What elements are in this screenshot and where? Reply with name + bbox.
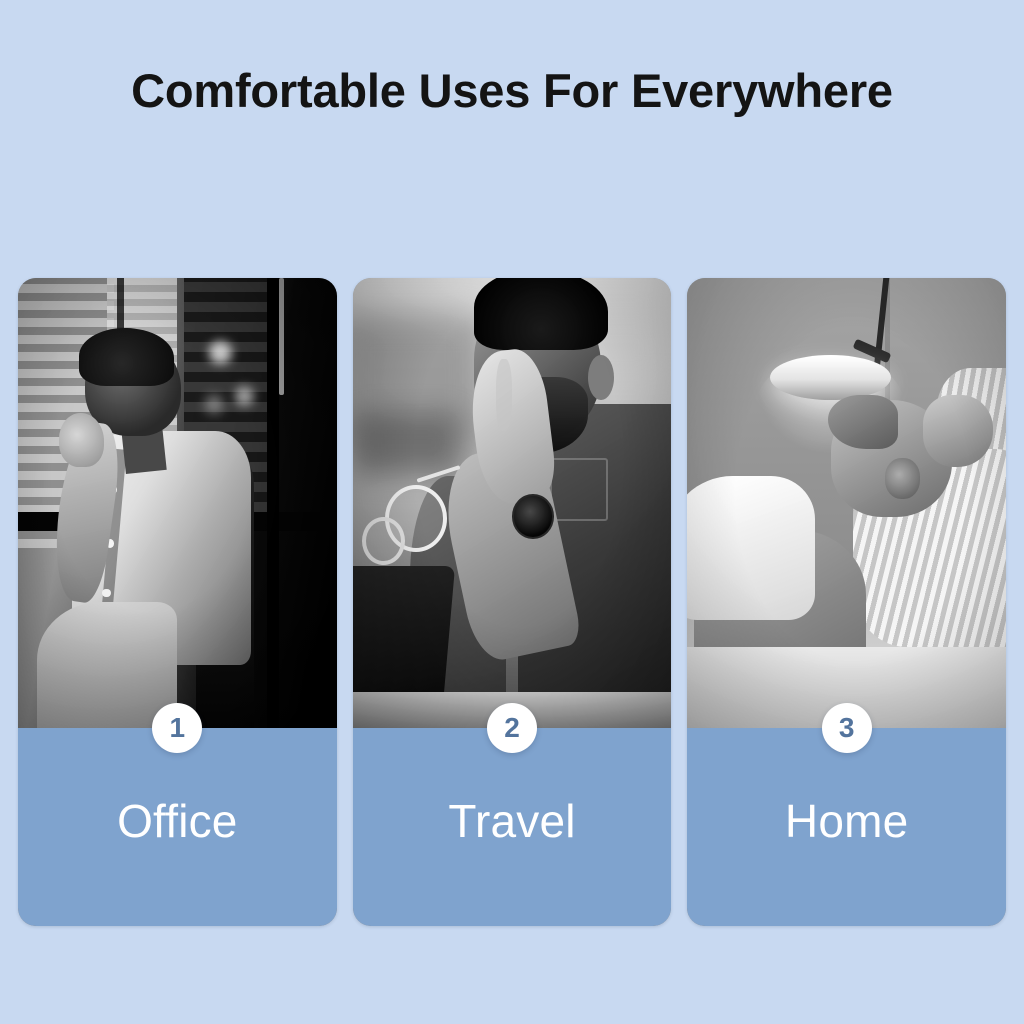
photo-vignette [353, 278, 672, 728]
use-case-card-home[interactable]: 3 Home [687, 278, 1006, 926]
card-label-home: Home [687, 798, 1006, 844]
step-number-badge: 3 [822, 703, 872, 753]
use-case-card-office[interactable]: 1 Office [18, 278, 337, 926]
step-number-badge: 1 [152, 703, 202, 753]
page-title: Comfortable Uses For Everywhere [0, 66, 1024, 115]
photo-vignette [687, 278, 1006, 728]
use-case-card-list: 1 Office 2 Trave [18, 278, 1006, 926]
card-label-office: Office [18, 798, 337, 844]
step-number-badge: 2 [487, 703, 537, 753]
office-photo [18, 278, 337, 728]
home-photo [687, 278, 1006, 728]
photo-vignette [18, 278, 337, 728]
use-case-card-travel[interactable]: 2 Travel [353, 278, 672, 926]
travel-photo [353, 278, 672, 728]
card-label-travel: Travel [353, 798, 672, 844]
